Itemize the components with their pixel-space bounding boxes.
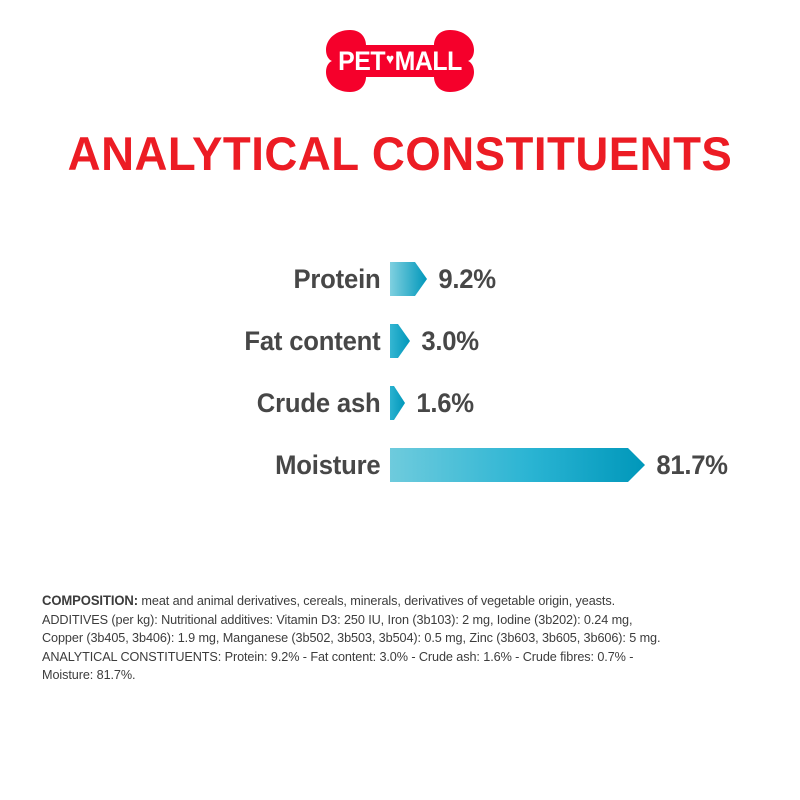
chart-row-value: 1.6% [405,388,474,419]
bar-arrow-icon [390,386,405,420]
heart-icon: ♥ [386,51,394,68]
analytical-constituents-chart: Protein 9.2% Fat content [0,248,800,496]
brand-name-part1: PET [338,46,385,77]
chart-row-label: Crude ash [20,388,391,419]
chart-row-label: Moisture [20,450,391,481]
chart-row-label: Fat content [20,326,391,357]
composition-line-5: Moisture: 81.7%. [42,666,737,685]
bar-arrow-icon [390,448,645,482]
bar-arrow-icon [390,324,410,358]
chart-row-label: Protein [20,264,391,295]
composition-text-block: COMPOSITION: meat and animal derivatives… [42,592,737,685]
composition-line-1: COMPOSITION: meat and animal derivatives… [42,592,737,611]
chart-bar-protein [390,262,427,296]
chart-bar-moisture [390,448,645,482]
composition-line-4: ANALYTICAL CONSTITUENTS: Protein: 9.2% -… [42,648,737,667]
brand-name-part2: MALL [395,46,462,77]
chart-row-moisture: Moisture 81.7% [0,434,800,496]
chart-row-value: 3.0% [410,326,479,357]
chart-row-value: 81.7% [645,450,728,481]
bone-logo-shape: PET♥MALL [320,22,480,100]
composition-line-3: Copper (3b405, 3b406): 1.9 mg, Manganese… [42,629,737,648]
chart-bar-fat-content [390,324,410,358]
composition-line-1-rest: meat and animal derivatives, cereals, mi… [138,593,615,608]
page-title: ANALYTICAL CONSTITUENTS [12,126,788,181]
brand-wordmark: PET♥MALL [326,22,473,100]
chart-bar-crude-ash [390,386,405,420]
bar-arrow-icon [390,262,427,296]
composition-label: COMPOSITION: [42,593,138,608]
chart-row-fat-content: Fat content 3.0% [0,310,800,372]
product-spec-panel: PET♥MALL ANALYTICAL CONSTITUENTS Protein… [0,0,800,800]
chart-row-crude-ash: Crude ash 1.6% [0,372,800,434]
composition-line-2: ADDITIVES (per kg): Nutritional additive… [42,611,737,630]
chart-row-protein: Protein 9.2% [0,248,800,310]
chart-row-value: 9.2% [427,264,496,295]
brand-logo: PET♥MALL [0,22,800,100]
